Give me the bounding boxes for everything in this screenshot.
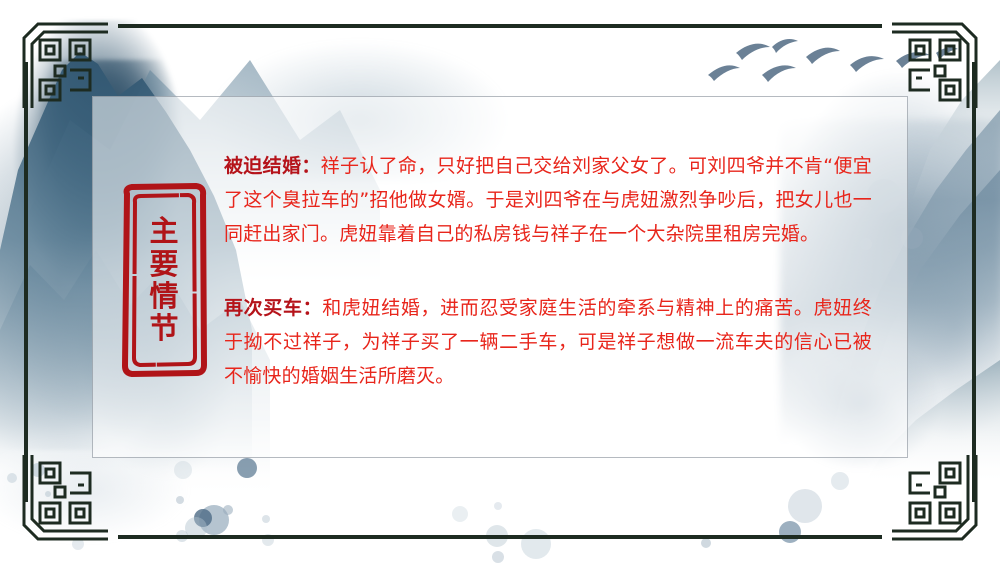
- paragraph-lead-buy-cart-again: 再次买车：: [224, 297, 322, 319]
- decorative-bubble: [521, 529, 551, 559]
- decorative-bubble: [788, 489, 822, 523]
- decorative-bubble: [452, 506, 468, 522]
- seal-char-1: 主: [149, 216, 178, 246]
- bird-icon: [850, 56, 884, 72]
- slide-canvas: 主 要 情 节 被迫结婚：祥子认了命，只好把自己交给刘家父女了。可刘四爷并不肯“…: [0, 0, 1000, 563]
- plot-text-column: 被迫结婚：祥子认了命，只好把自己交给刘家父女了。可刘四爷并不肯“便宜了这个臭拉车…: [224, 130, 872, 412]
- bird-icon: [708, 65, 740, 81]
- seal-char-2: 要: [149, 249, 178, 279]
- decorative-bubble: [831, 472, 849, 490]
- paragraph-body-forced-marriage: 祥子认了命，只好把自己交给刘家父女了。可刘四爷并不肯“便宜了这个臭拉车的”招他做…: [224, 155, 872, 245]
- decorative-bubble: [174, 461, 192, 479]
- frame-rule-left: [24, 62, 28, 502]
- bird-icon: [736, 44, 770, 60]
- decorative-bubble: [701, 538, 711, 548]
- bird-icon: [806, 48, 840, 64]
- decorative-bubble: [7, 473, 17, 483]
- decorative-bubble: [194, 509, 212, 527]
- frame-rule-top: [118, 24, 882, 28]
- decorative-bubble: [199, 505, 229, 535]
- paragraph-lead-forced-marriage: 被迫结婚：: [224, 155, 321, 177]
- paragraph-buy-cart-again: 再次买车：和虎妞结婚，进而忍受家庭生活的牵系与精神上的痛苦。虎妞终于拗不过祥子，…: [224, 291, 872, 393]
- bird-icon: [762, 65, 796, 82]
- seal-characters: 主 要 情 节: [120, 182, 208, 378]
- bird-icon: [772, 39, 798, 53]
- decorative-bubble: [176, 496, 184, 504]
- decorative-bubble: [779, 521, 801, 543]
- frame-rule-bottom: [118, 535, 882, 539]
- seal-char-4: 节: [149, 313, 178, 343]
- main-plot-seal: 主 要 情 节: [120, 182, 208, 378]
- corner-fret-bottom-left-icon: [18, 449, 114, 545]
- paragraph-forced-marriage: 被迫结婚：祥子认了命，只好把自己交给刘家父女了。可刘四爷并不肯“便宜了这个臭拉车…: [224, 149, 872, 251]
- paragraph-body-buy-cart-again: 和虎妞结婚，进而忍受家庭生活的牵系与精神上的痛苦。虎妞终于拗不过祥子，为祥子买了…: [224, 297, 872, 387]
- decorative-bubble: [494, 502, 502, 510]
- frame-rule-right: [972, 62, 976, 502]
- decorative-bubble: [223, 505, 233, 515]
- seal-char-3: 情: [149, 281, 178, 311]
- decorative-bubble: [262, 515, 270, 523]
- decorative-bubble: [492, 551, 504, 563]
- decorative-bubble: [237, 458, 257, 478]
- corner-fret-bottom-right-icon: [886, 449, 982, 545]
